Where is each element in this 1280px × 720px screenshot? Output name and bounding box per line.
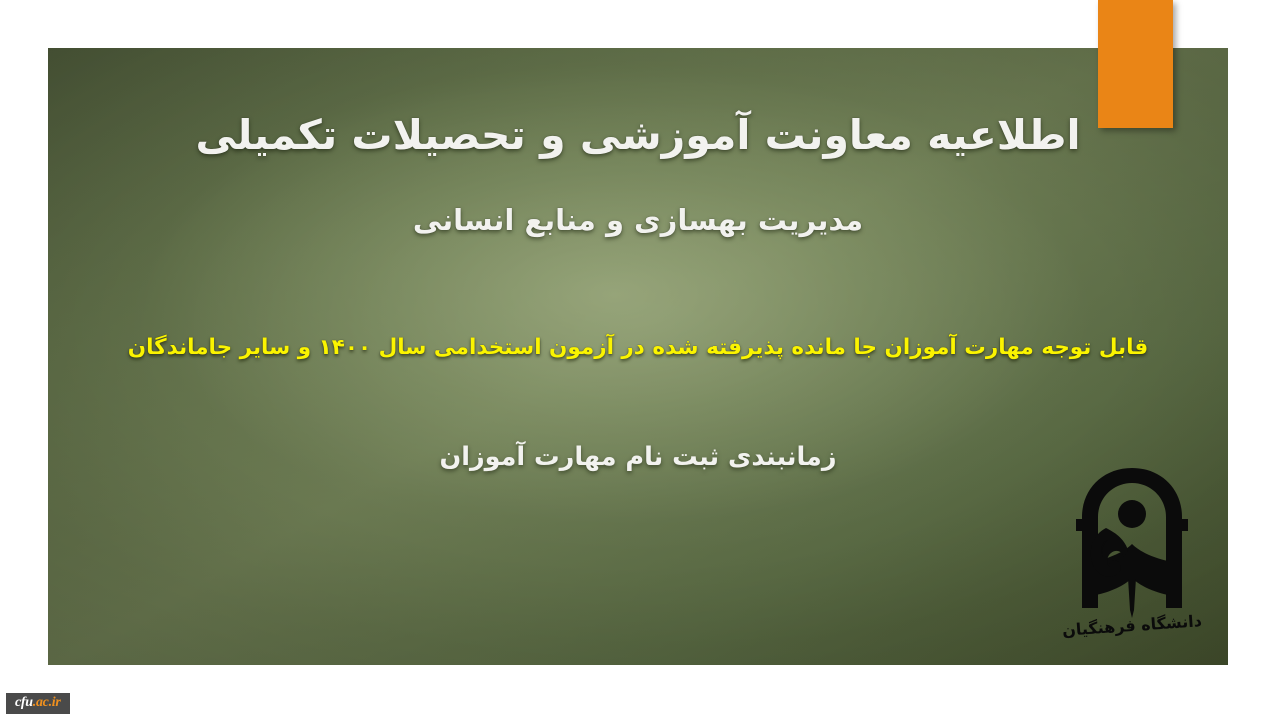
slide-notice-text: قابل توجه مهارت آموزان جا مانده پذیرفته … bbox=[48, 334, 1228, 362]
orange-accent-bar bbox=[1098, 0, 1173, 128]
slide-text-block: اطلاعیه معاونت آموزشی و تحصیلات تکمیلی م… bbox=[48, 48, 1228, 665]
slide-headline: اطلاعیه معاونت آموزشی و تحصیلات تکمیلی bbox=[48, 110, 1228, 161]
university-logo: دانشگاه فرهنگیان bbox=[1062, 462, 1202, 637]
watermark-secondary: .ac.ir bbox=[33, 695, 61, 710]
site-watermark: cfu.ac.ir bbox=[6, 693, 70, 714]
watermark-primary: cfu bbox=[15, 695, 33, 710]
slide-schedule-heading: زمانبندی ثبت نام مهارت آموزان bbox=[48, 442, 1228, 472]
slide-canvas: اطلاعیه معاونت آموزشی و تحصیلات تکمیلی م… bbox=[0, 0, 1280, 720]
slide-subheadline: مدیریت بهسازی و منابع انسانی bbox=[48, 202, 1228, 238]
farhangian-logo-mark bbox=[1062, 462, 1202, 637]
